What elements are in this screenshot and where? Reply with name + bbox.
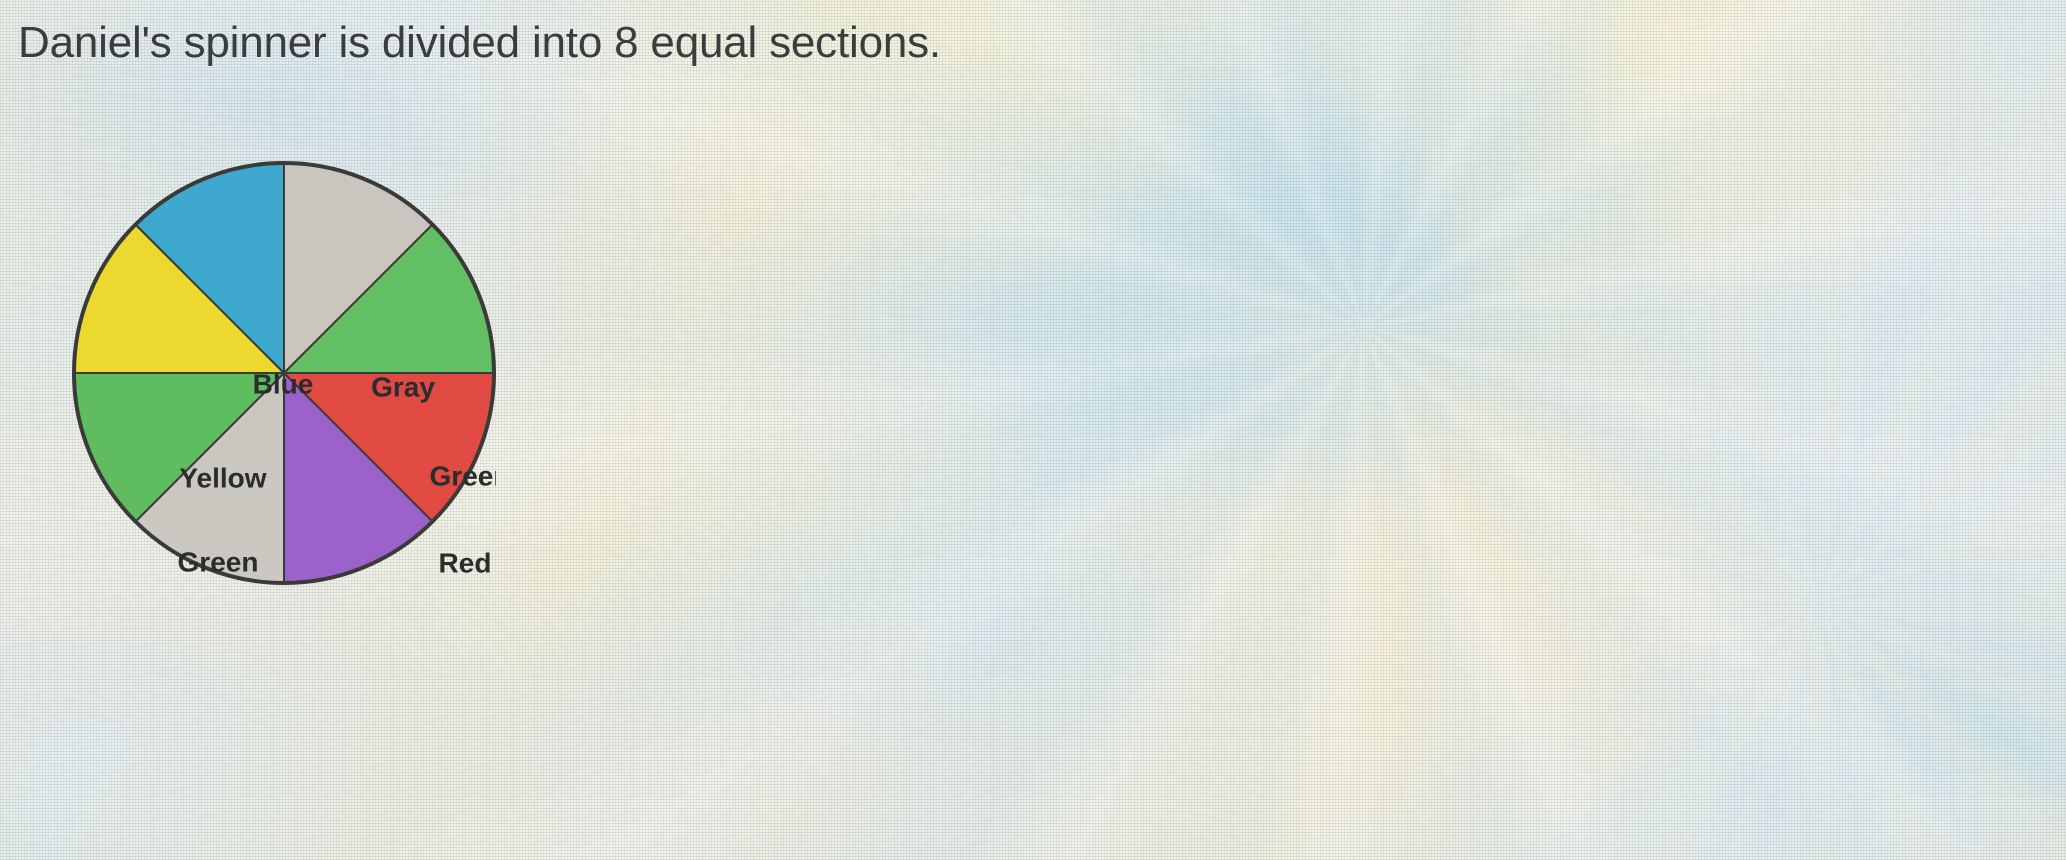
question-prompt-text: Daniel's spinner is divided into 8 equal… bbox=[18, 18, 941, 67]
spinner-svg: GrayGreenRedPurpleGrayGreenYellowBlue bbox=[72, 150, 496, 596]
spinner-sector-label: Yellow bbox=[179, 462, 266, 493]
spinner-sector-label: Red bbox=[439, 547, 492, 578]
spinner-sector-label: Green bbox=[430, 460, 496, 491]
spinner-sector-label: Green bbox=[178, 546, 259, 577]
spinner-sector-label: Blue bbox=[253, 368, 314, 399]
spinner-sector-label: Gray bbox=[371, 371, 435, 402]
spinner-diagram: GrayGreenRedPurpleGrayGreenYellowBlue bbox=[72, 150, 496, 596]
screenshot-root: Daniel's spinner is divided into 8 equal… bbox=[0, 0, 2066, 860]
